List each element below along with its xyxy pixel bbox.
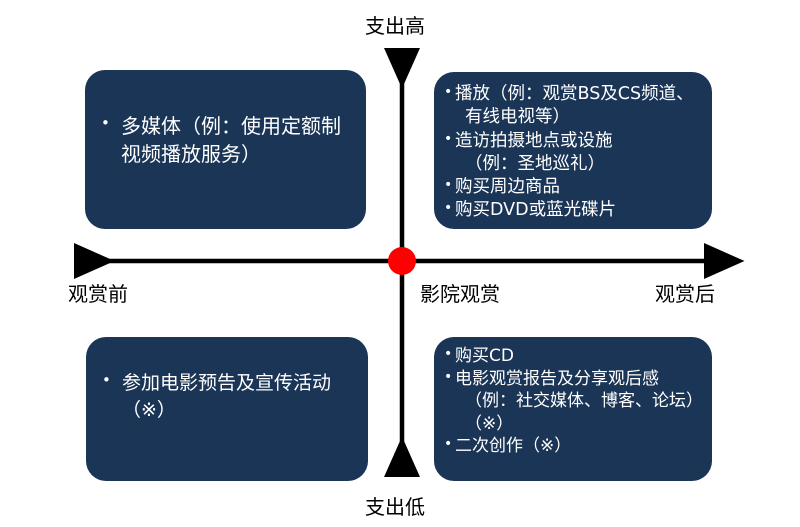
quadrant-box-bottom-left[interactable]: • 参加电影预告及宣传活动 （※）: [86, 337, 368, 481]
axis-label-bottom: 支出低: [365, 491, 425, 520]
bullet-list: • 购买CD • 电影观赏报告及分享观后感 （例：社交媒体、博客、论坛） （※）…: [444, 345, 706, 458]
list-item-text: 购买DVD或蓝光碟片: [455, 200, 616, 220]
axis-label-right: 观赏后: [655, 278, 715, 307]
quadrant-content-top-left: • 多媒体（例：使用定额制 视频播放服务）: [85, 113, 366, 168]
list-item-text: 播放（例：观赏BS及CS频道、: [455, 84, 694, 104]
list-item-continuation: （※）: [122, 397, 358, 424]
diagram-canvas: • 多媒体（例：使用定额制 视频播放服务） • 播放（例：观赏BS及CS频道、 …: [0, 0, 800, 527]
list-item: • 造访拍摄地点或设施 （例：圣地巡礼）: [444, 130, 706, 177]
bullet-icon: •: [444, 368, 452, 387]
bullet-icon: •: [101, 113, 110, 134]
quadrant-content-top-right: • 播放（例：观赏BS及CS频道、 有线电视等） • 造访拍摄地点或设施 （例：…: [434, 83, 712, 223]
list-item-text: 造访拍摄地点或设施: [455, 131, 613, 151]
list-item: • 二次创作（※）: [444, 435, 706, 458]
bullet-list: • 多媒体（例：使用定额制 视频播放服务）: [99, 113, 356, 168]
center-marker-dot: [388, 247, 416, 275]
list-item-continuation: （例：圣地巡礼）: [455, 153, 706, 176]
list-item-continuation: 视频播放服务）: [121, 141, 356, 169]
axis-label-left: 观赏前: [68, 278, 128, 307]
list-item-text: 电影观赏报告及分享观后感: [455, 369, 659, 389]
bullet-icon: •: [444, 130, 452, 149]
list-item-continuation: 有线电视等）: [455, 106, 706, 129]
list-item: • 播放（例：观赏BS及CS频道、 有线电视等）: [444, 83, 706, 130]
list-item-text: 参加电影预告及宣传活动: [122, 372, 331, 394]
bullet-list: • 参加电影预告及宣传活动 （※）: [100, 370, 358, 423]
bullet-icon: •: [444, 199, 452, 218]
bullet-icon: •: [444, 435, 452, 454]
list-item-continuation-2: （※）: [455, 413, 706, 436]
bullet-icon: •: [102, 370, 111, 391]
bullet-icon: •: [444, 176, 452, 195]
list-item-text: 购买周边商品: [455, 177, 560, 197]
quadrant-box-top-right[interactable]: • 播放（例：观赏BS及CS频道、 有线电视等） • 造访拍摄地点或设施 （例：…: [434, 72, 712, 229]
axis-label-top: 支出高: [365, 10, 425, 39]
list-item: • 购买DVD或蓝光碟片: [444, 199, 706, 222]
quadrant-box-bottom-right[interactable]: • 购买CD • 电影观赏报告及分享观后感 （例：社交媒体、博客、论坛） （※）…: [434, 337, 712, 481]
quadrant-content-bottom-left: • 参加电影预告及宣传活动 （※）: [86, 370, 368, 423]
bullet-list: • 播放（例：观赏BS及CS频道、 有线电视等） • 造访拍摄地点或设施 （例：…: [444, 83, 706, 223]
quadrant-content-bottom-right: • 购买CD • 电影观赏报告及分享观后感 （例：社交媒体、博客、论坛） （※）…: [434, 345, 712, 458]
list-item-text: 多媒体（例：使用定额制: [121, 114, 341, 138]
list-item: • 电影观赏报告及分享观后感 （例：社交媒体、博客、论坛） （※）: [444, 368, 706, 436]
list-item: • 参加电影预告及宣传活动 （※）: [100, 370, 358, 423]
bullet-icon: •: [444, 345, 452, 364]
list-item: • 多媒体（例：使用定额制 视频播放服务）: [99, 113, 356, 168]
list-item-text: 购买CD: [455, 346, 514, 366]
list-item-continuation: （例：社交媒体、博客、论坛）: [455, 390, 706, 413]
quadrant-box-top-left[interactable]: • 多媒体（例：使用定额制 视频播放服务）: [85, 70, 366, 229]
axis-label-center: 影院观赏: [420, 278, 500, 307]
list-item-text: 二次创作（※）: [455, 436, 571, 456]
list-item: • 购买CD: [444, 345, 706, 368]
bullet-icon: •: [444, 83, 452, 102]
list-item: • 购买周边商品: [444, 176, 706, 199]
